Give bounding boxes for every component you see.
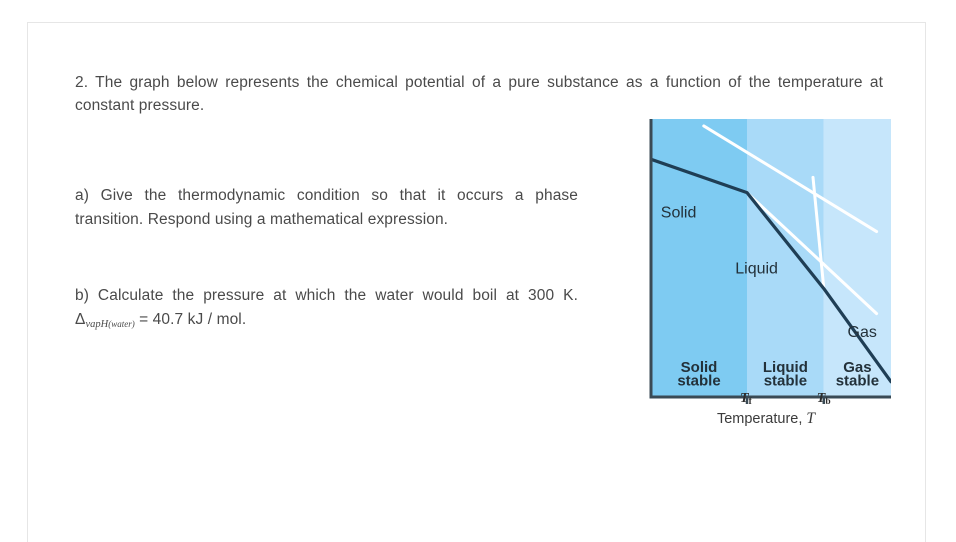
question-part-a-text: a) Give the thermodynamic condition so t… (75, 184, 578, 232)
part-b-tail: = 40.7 kJ / mol. (135, 311, 247, 328)
tb-subscript: b (825, 397, 830, 407)
x-axis-label-text: Temperature, (717, 411, 802, 427)
chemical-potential-plot: SolidLiquidGasSolidstableLiquidstableGas… (641, 119, 891, 409)
chart-x-axis-label: Temperature, T (641, 410, 891, 428)
region-band-2 (824, 119, 891, 397)
enthalpy-vaporization-term: ΔvapH(water) (75, 311, 135, 328)
gas-curve-label: Gas (848, 324, 877, 341)
part-b-lead: b) Calculate the pressure at which the w… (75, 287, 578, 304)
liquid-stable-bottom: stable (764, 372, 807, 389)
phase-diagram-figure: Chemical potential, μ SolidLiquidGasSoli… (613, 101, 903, 431)
question-part-b-text: b) Calculate the pressure at which the w… (75, 284, 578, 337)
solid-stable-bottom: stable (677, 372, 720, 389)
delta-subscript-main: vapH (85, 319, 108, 330)
x-tick-label-tb: Tb (817, 391, 831, 407)
region-band-0 (651, 119, 747, 397)
chart-plot-area: SolidLiquidGasSolidstableLiquidstableGas… (641, 119, 891, 409)
gas-stable-bottom: stable (836, 372, 879, 389)
delta-subscript-paren: (water) (108, 319, 135, 329)
temperature-symbol: T (806, 410, 815, 427)
solid-curve-label: Solid (661, 205, 697, 222)
document-content: 2. The graph below represents the chemic… (28, 23, 925, 542)
delta-symbol: Δ (75, 311, 85, 328)
x-tick-label-tf: Tf (740, 391, 752, 407)
liquid-curve-label: Liquid (735, 260, 778, 277)
document-card: 2. The graph below represents the chemic… (27, 22, 926, 542)
delta-subscript: vapH(water) (85, 319, 134, 330)
tf-base: T (740, 391, 749, 406)
tf-subscript: f (749, 397, 752, 407)
